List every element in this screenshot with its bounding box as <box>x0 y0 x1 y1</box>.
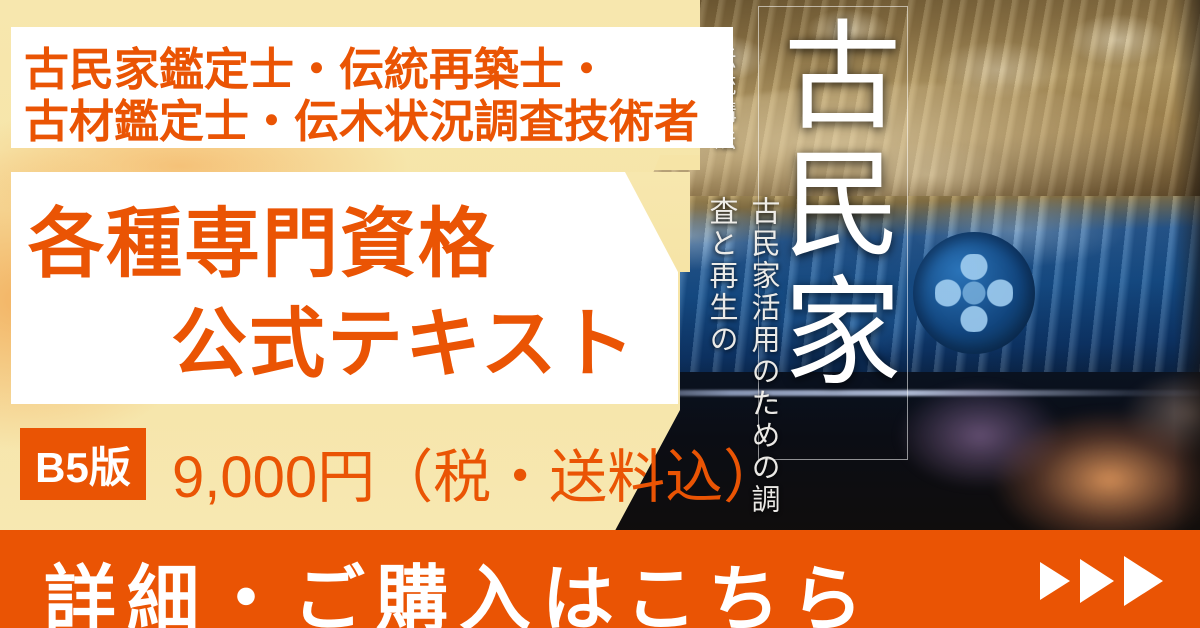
qualifications-line-2: 古材鑑定士・伝木状況調査技術者 <box>11 85 699 150</box>
play-arrow-icon-1 <box>1040 562 1070 600</box>
bokeh-glow <box>866 352 1200 540</box>
play-arrow-icon-3 <box>1124 556 1163 606</box>
main-headline-line-2: 公式テキスト <box>171 282 637 392</box>
price-text: 9,000円（税・送料込） <box>172 430 781 514</box>
format-badge: B5版 <box>20 428 146 500</box>
cover-right-shadow <box>1174 0 1200 540</box>
cta-arrows <box>1040 556 1163 606</box>
play-arrow-icon-2 <box>1080 559 1114 603</box>
format-badge-label: B5版 <box>20 428 146 500</box>
family-crest-medallion <box>913 232 1035 354</box>
main-headline-line-1: 各種専門資格 <box>28 182 496 292</box>
main-headline-card: 各種専門資格 公式テキスト <box>11 172 678 404</box>
promo-banner: 古民家 伝統構法 古民家活用のための調査と再生の 古民家鑑定士・伝統再築士・ 古… <box>0 0 1200 628</box>
cta-bar[interactable]: 詳細・ご購入はこちら <box>0 530 1200 628</box>
cta-label: 詳細・ご購入はこちら <box>44 540 874 628</box>
qualifications-card: 古民家鑑定士・伝統再築士・ 古材鑑定士・伝木状況調査技術者 <box>11 27 733 148</box>
